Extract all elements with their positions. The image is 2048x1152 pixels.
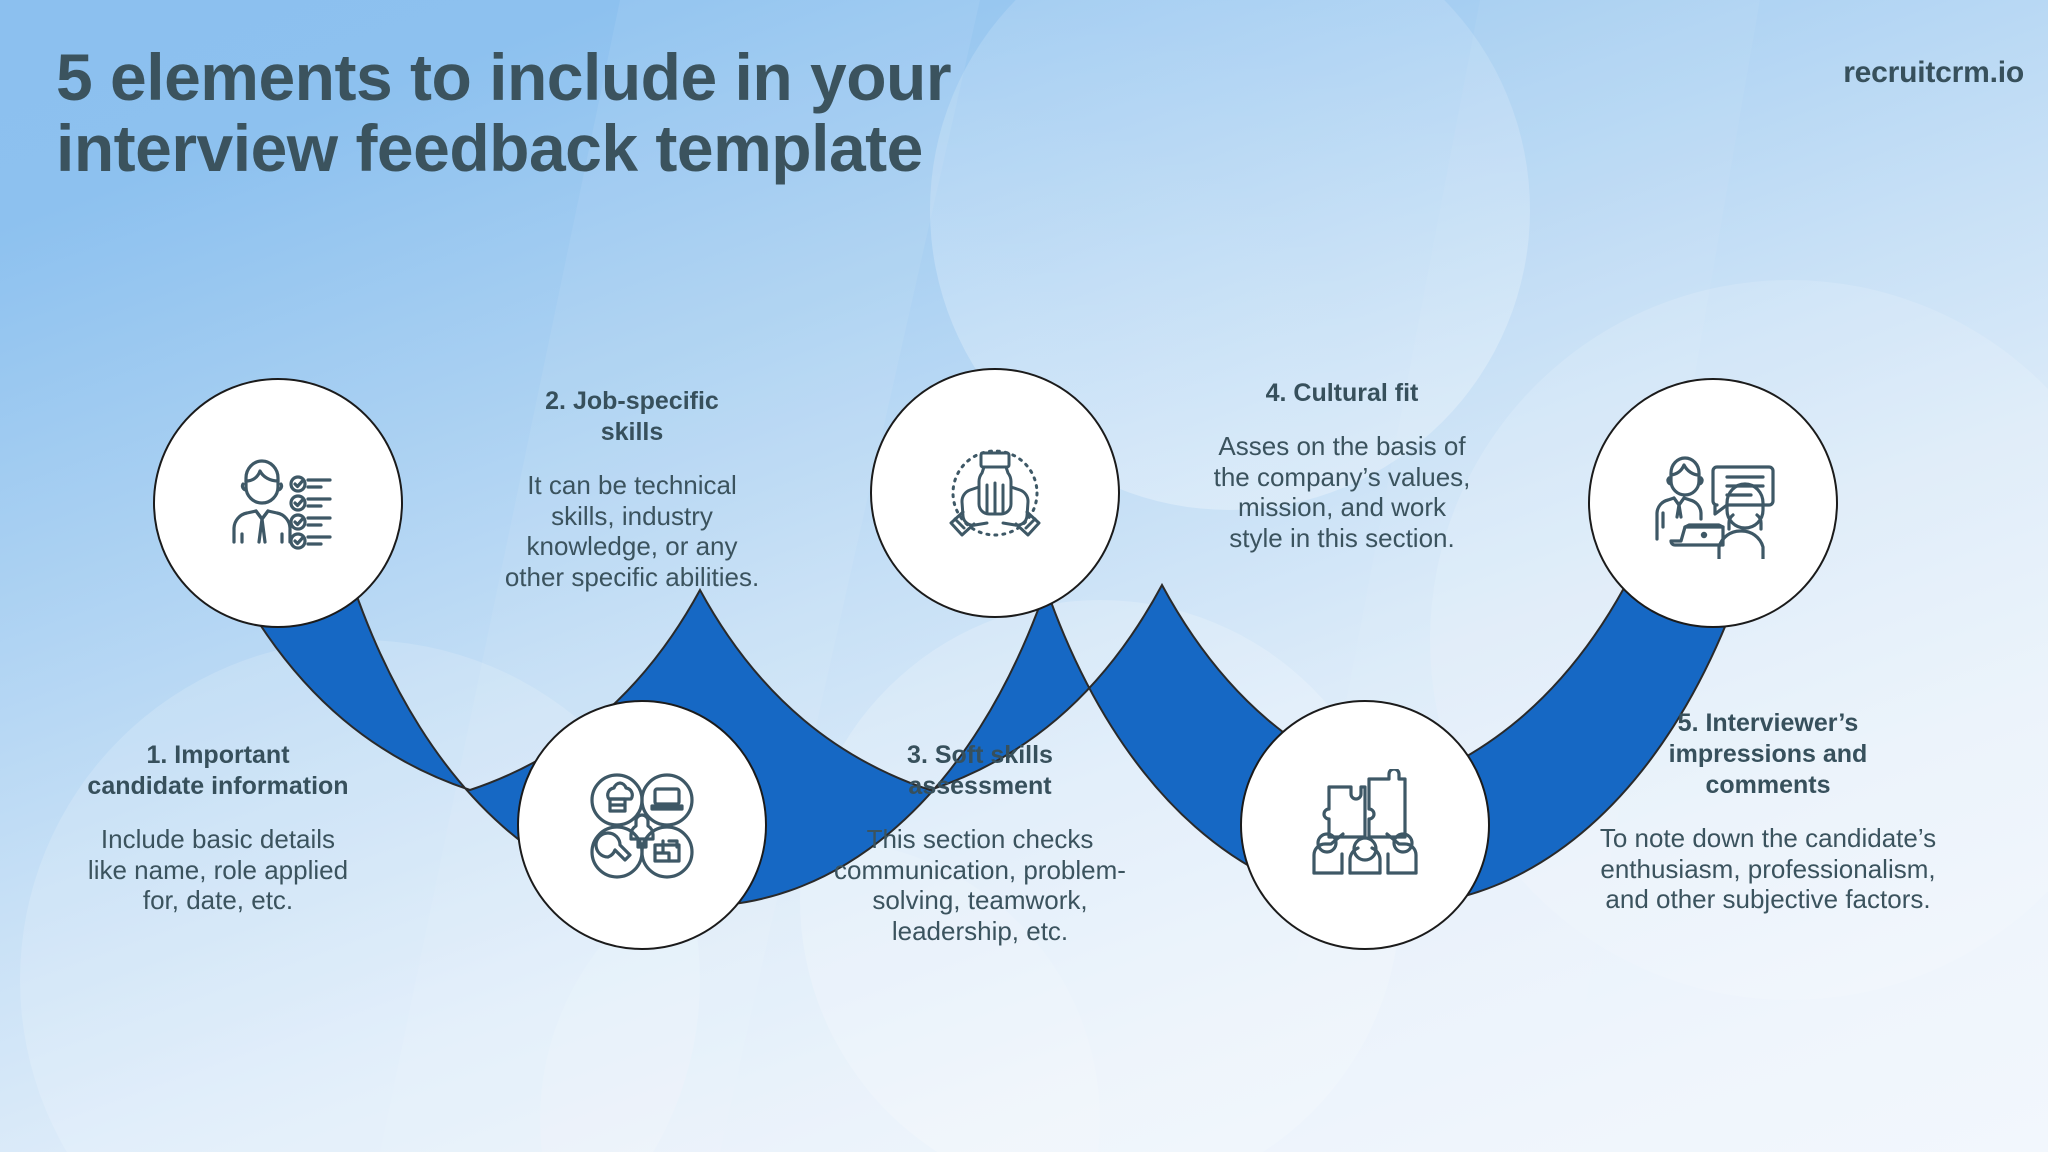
step-3-description: This section checks communication, probl… <box>790 824 1170 947</box>
step-3-text: 3. Soft skills assessment This section c… <box>790 740 1170 947</box>
page-title: 5 elements to include in your interview … <box>56 42 1236 185</box>
step-5-title: 5. Interviewer’s impressions and comment… <box>1548 708 1988 801</box>
step-4-icon-circle[interactable] <box>1240 700 1490 950</box>
step-4-title: 4. Cultural fit <box>1162 378 1522 409</box>
skills-quadrant-icon <box>582 767 702 883</box>
step-2-title: 2. Job-specific skills <box>452 386 812 448</box>
interview-chat-icon <box>1647 447 1779 559</box>
step-3-title: 3. Soft skills assessment <box>790 740 1170 802</box>
step-2-text: 2. Job-specific skills It can be technic… <box>452 386 812 593</box>
step-5-description: To note down the candidate’s enthusiasm,… <box>1548 823 1988 915</box>
step-3-icon-circle[interactable] <box>870 368 1120 618</box>
puzzle-people-icon <box>1303 769 1427 881</box>
brand-logo: recruitcrm.io <box>1843 56 2024 90</box>
step-1-text: 1. Important candidate information Inclu… <box>38 740 398 916</box>
step-5-text: 5. Interviewer’s impressions and comment… <box>1548 708 1988 915</box>
step-2-description: It can be technical skills, industry kno… <box>452 470 812 593</box>
teamwork-hands-icon <box>933 437 1057 549</box>
step-2-icon-circle[interactable] <box>517 700 767 950</box>
infographic-canvas: 1. Important candidate information Inclu… <box>0 0 2048 1152</box>
step-1-description: Include basic details like name, role ap… <box>38 824 398 916</box>
title-block: 5 elements to include in your interview … <box>56 42 1236 185</box>
step-5-icon-circle[interactable] <box>1588 378 1838 628</box>
step-4-description: Asses on the basis of the company’s valu… <box>1162 431 1522 554</box>
step-1-title: 1. Important candidate information <box>38 740 398 802</box>
person-checklist-icon <box>218 448 338 558</box>
step-4-text: 4. Cultural fit Asses on the basis of th… <box>1162 378 1522 554</box>
step-1-icon-circle[interactable] <box>153 378 403 628</box>
